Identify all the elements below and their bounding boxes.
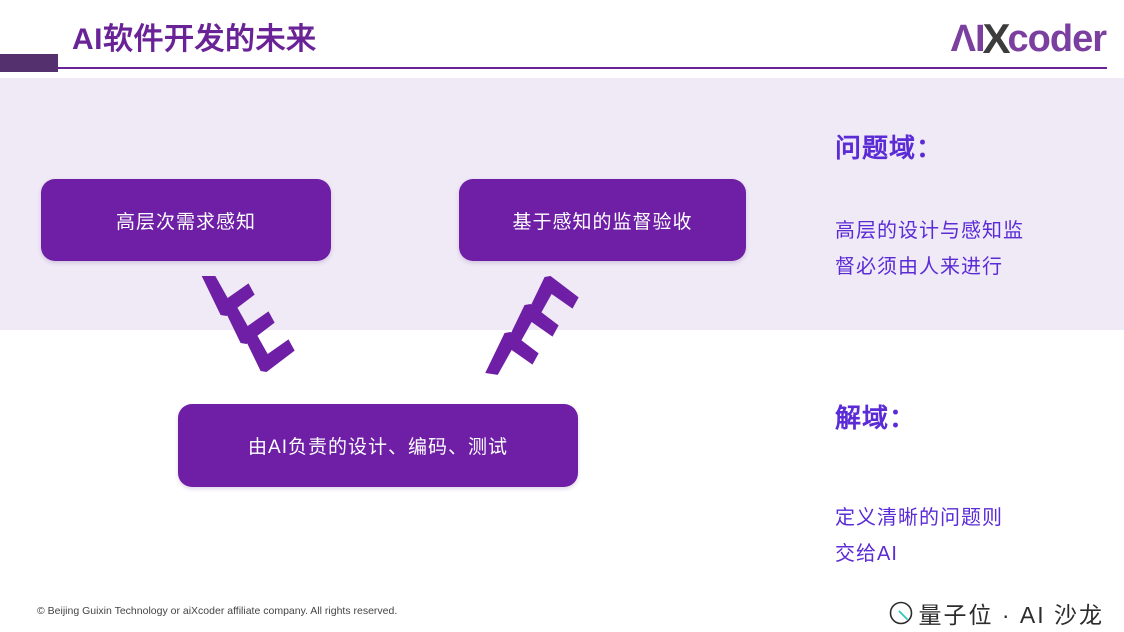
copyright-text: © Beijing Guixin Technology or aiXcoder …: [37, 605, 397, 617]
process-box-perception-label: 高层次需求感知: [116, 207, 256, 234]
process-box-supervision-label: 基于感知的监督验收: [512, 207, 692, 234]
solution-domain-line-2: 交给AI: [835, 536, 1003, 572]
problem-domain-heading: 问题域：: [835, 128, 943, 165]
logo-text-coder: coder: [1008, 20, 1106, 58]
header-accent-block: [0, 54, 58, 72]
problem-domain-line-1: 高层的设计与感知监: [835, 213, 1024, 249]
solution-domain-heading: 解域：: [835, 398, 916, 435]
arrow-up-icon: [480, 276, 590, 376]
process-box-perception[interactable]: 高层次需求感知: [41, 179, 331, 261]
qbitai-circle-icon: [888, 600, 914, 626]
problem-domain-line-2: 督必须由人来进行: [835, 249, 1024, 285]
solution-domain-line-1: 定义清晰的问题则: [835, 500, 1003, 536]
logo-text-x: X: [983, 18, 1010, 60]
problem-domain-body: 高层的设计与感知监 督必须由人来进行: [835, 213, 1024, 285]
aixcoder-logo: ΛIXcoder: [951, 18, 1106, 60]
header-divider-line: [57, 67, 1107, 69]
arrow-down-icon: [196, 276, 306, 376]
logo-text-ai: ΛI: [951, 20, 985, 58]
page-title: AI软件开发的未来: [72, 14, 317, 58]
process-box-supervision[interactable]: 基于感知的监督验收: [459, 179, 746, 261]
qbitai-logo-text: 量子位 · AI 沙龙: [918, 596, 1104, 630]
process-box-ai-work[interactable]: 由AI负责的设计、编码、测试: [178, 404, 578, 487]
solution-domain-body: 定义清晰的问题则 交给AI: [835, 500, 1003, 572]
qbitai-logo: 量子位 · AI 沙龙: [888, 596, 1104, 630]
process-box-ai-work-label: 由AI负责的设计、编码、测试: [248, 432, 508, 459]
